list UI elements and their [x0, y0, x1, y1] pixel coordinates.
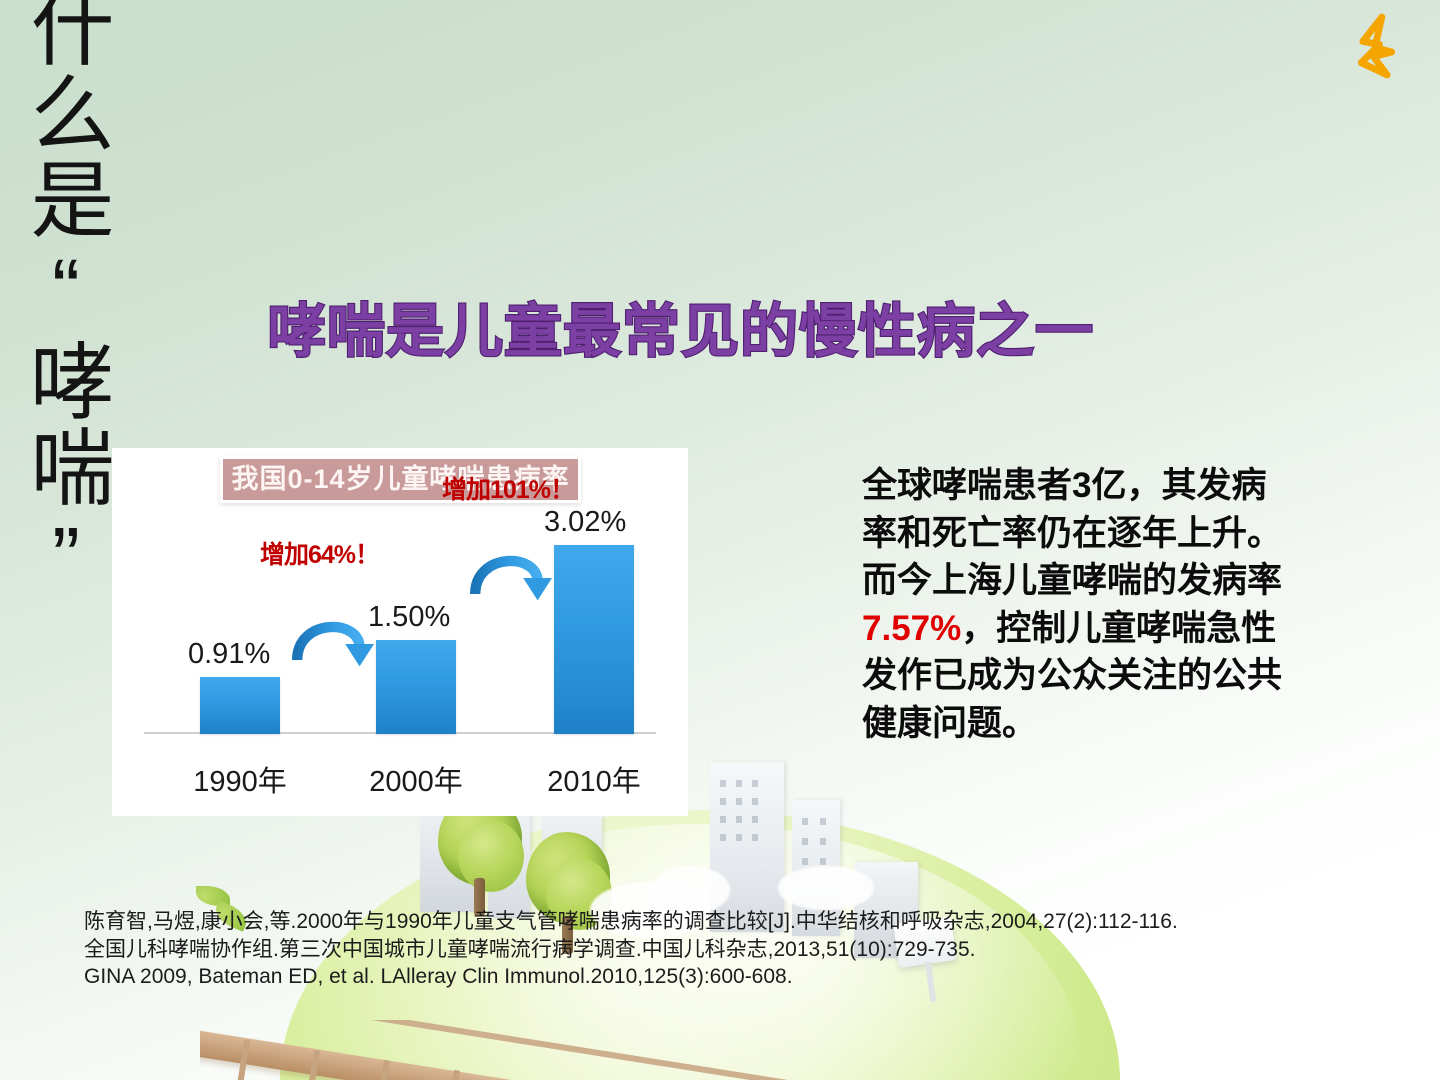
reference-3: GINA 2009, Bateman ED, et al. LAlleray C…	[84, 963, 1354, 991]
slide-canvas: 什么是“哮喘” 哮喘是儿童最常见的慢性病之一 我国0-14岁儿童哮喘患病率 0.…	[0, 0, 1440, 1080]
reference-2: 全国儿科哮喘协作组.第三次中国城市儿童哮喘流行病学调查.中国儿科杂志,2013,…	[84, 936, 1354, 964]
curved-arrow-icon	[464, 538, 560, 602]
bar-2010	[554, 545, 634, 734]
highlight-rate: 7.57%	[862, 609, 961, 648]
references-block: 陈育智,马煜,康小会,等.2000年与1990年儿童支气管哮喘患病率的调查比较[…	[84, 908, 1354, 991]
body-line-2: 率和死亡率仍在逐年上升。	[862, 510, 1358, 558]
body-line-1: 全球哮喘患者3亿，其发病	[862, 462, 1358, 510]
curved-arrow-icon	[286, 604, 382, 668]
building-icon	[542, 804, 602, 916]
bar-value-1990: 0.91%	[188, 638, 270, 671]
annotation-increase-101: 增加101%！	[442, 470, 574, 506]
body-line-3: 而今上海儿童哮喘的发病率	[862, 557, 1358, 605]
bar-value-2010: 3.02%	[544, 506, 626, 539]
leaf-icon	[196, 886, 230, 906]
body-line-4: 7.57%，控制儿童哮喘急性	[862, 605, 1358, 653]
body-paragraph: 全球哮喘患者3亿，其发病 率和死亡率仍在逐年上升。 而今上海儿童哮喘的发病率 7…	[862, 462, 1358, 748]
bar-2000	[376, 640, 456, 734]
astrazeneca-logo	[1340, 8, 1416, 84]
page-title: 哮喘是儿童最常见的慢性病之一	[268, 284, 1094, 368]
annotation-increase-64: 增加64%！	[260, 535, 379, 571]
body-line-4-rest: ，控制儿童哮喘急性	[961, 609, 1276, 648]
x-tick-2010: 2010年	[534, 758, 654, 800]
cloud-icon	[650, 866, 730, 914]
x-tick-1990: 1990年	[180, 758, 300, 800]
body-line-5: 发作已成为公众关注的公共	[862, 652, 1358, 700]
cloud-icon	[778, 866, 874, 910]
chart-panel: 我国0-14岁儿童哮喘患病率 0.91% 1.50% 3.02% 1990年 2…	[112, 448, 688, 816]
x-tick-2000: 2000年	[356, 758, 476, 800]
bridge-illustration	[200, 1020, 820, 1080]
body-line-6: 健康问题。	[862, 700, 1358, 748]
vertical-section-title: 什么是“哮喘”	[0, 0, 110, 606]
reference-1: 陈育智,马煜,康小会,等.2000年与1990年儿童支气管哮喘患病率的调查比较[…	[84, 908, 1354, 936]
building-icon	[710, 762, 784, 932]
bar-1990	[200, 677, 280, 734]
